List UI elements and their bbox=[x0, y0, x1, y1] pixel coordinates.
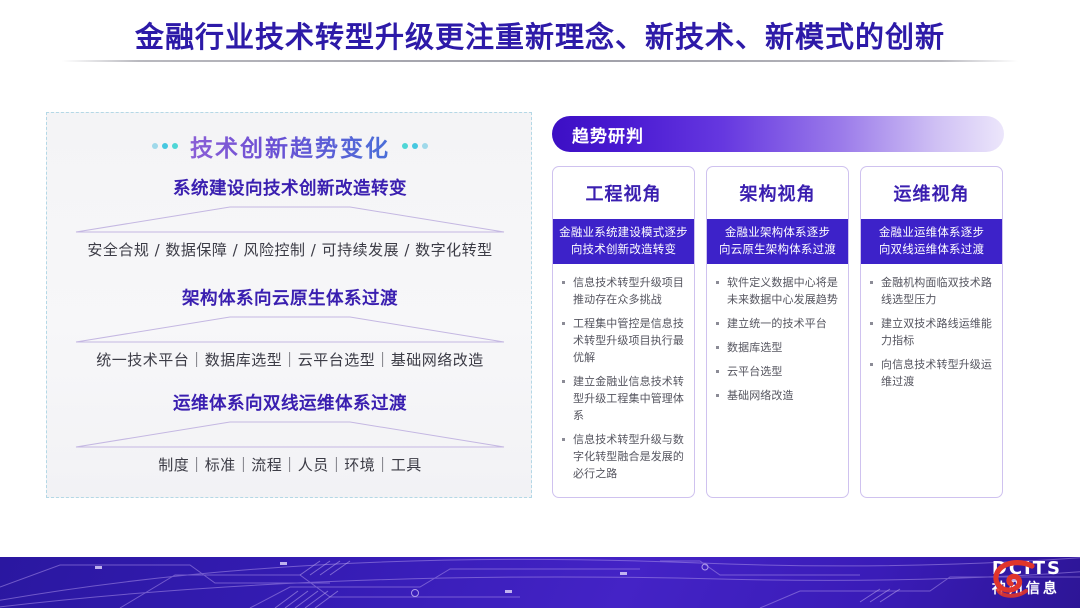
funnel-shape-icon bbox=[75, 206, 505, 234]
footer-banner: DCITS 神州信息 bbox=[0, 557, 1080, 608]
trend-group-heading: 运维体系向双线运维体系过渡 bbox=[47, 390, 533, 415]
card-summary-band: 金融业运维体系逐步 向双线运维体系过渡 bbox=[861, 219, 1002, 264]
list-item: 建立双技术路线运维能力指标 bbox=[867, 315, 994, 349]
perspective-card-engineering[interactable]: 工程视角 金融业系统建设模式逐步 向技术创新改造转变 信息技术转型升级项目推动存… bbox=[552, 166, 695, 498]
list-item: 建立金融业信息技术转型升级工程集中管理体系 bbox=[559, 373, 686, 424]
list-item: 基础网络改造 bbox=[713, 387, 840, 404]
list-item: 金融机构面临双技术路线选型压力 bbox=[867, 274, 994, 308]
card-band-line: 向云原生架构体系过渡 bbox=[711, 241, 844, 258]
card-band-line: 向技术创新改造转变 bbox=[557, 241, 690, 258]
card-summary-band: 金融业系统建设模式逐步 向技术创新改造转变 bbox=[553, 219, 694, 264]
funnel-shape-icon bbox=[75, 316, 505, 344]
card-title: 架构视角 bbox=[707, 167, 848, 219]
perspective-card-architecture[interactable]: 架构视角 金融业架构体系逐步 向云原生架构体系过渡 软件定义数据中心将是未来数据… bbox=[706, 166, 849, 498]
trend-judgement-label: 趋势研判 bbox=[572, 122, 644, 147]
decorative-dots-right bbox=[402, 143, 428, 149]
card-band-line: 金融业运维体系逐步 bbox=[865, 224, 998, 241]
list-item: 数据库选型 bbox=[713, 339, 840, 356]
page-title: 金融行业技术转型升级更注重新理念、新技术、新模式的创新 bbox=[0, 14, 1080, 56]
trend-group-heading: 架构体系向云原生体系过渡 bbox=[47, 285, 533, 310]
trend-change-panel: 技术创新趋势变化 系统建设向技术创新改造转变 安全合规 / 数据保障 / 风险控… bbox=[46, 112, 532, 498]
perspective-card-list: 工程视角 金融业系统建设模式逐步 向技术创新改造转变 信息技术转型升级项目推动存… bbox=[552, 166, 1004, 498]
card-summary-band: 金融业架构体系逐步 向云原生架构体系过渡 bbox=[707, 219, 848, 264]
list-item: 软件定义数据中心将是未来数据中心发展趋势 bbox=[713, 274, 840, 308]
list-item: 信息技术转型升级项目推动存在众多挑战 bbox=[559, 274, 686, 308]
list-item: 信息技术转型升级与数字化转型融合是发展的必行之路 bbox=[559, 431, 686, 482]
left-panel-title: 技术创新趋势变化 bbox=[190, 129, 390, 163]
card-bullet-area: 软件定义数据中心将是未来数据中心发展趋势 建立统一的技术平台 数据库选型 云平台… bbox=[707, 264, 848, 497]
company-logo: DCITS 神州信息 bbox=[992, 560, 1062, 596]
left-panel-header: 技术创新趋势变化 bbox=[47, 129, 533, 163]
dcits-swirl-logo-icon bbox=[992, 560, 1036, 600]
trend-judgement-banner: 趋势研判 bbox=[552, 116, 1004, 152]
card-band-line: 金融业架构体系逐步 bbox=[711, 224, 844, 241]
trend-group: 架构体系向云原生体系过渡 统一技术平台｜数据库选型｜云平台选型｜基础网络改造 bbox=[47, 285, 533, 370]
trend-group-items: 安全合规 / 数据保障 / 风险控制 / 可持续发展 / 数字化转型 bbox=[47, 239, 533, 260]
funnel-shape-icon bbox=[75, 421, 505, 449]
card-band-line: 金融业系统建设模式逐步 bbox=[557, 224, 690, 241]
trend-group: 系统建设向技术创新改造转变 安全合规 / 数据保障 / 风险控制 / 可持续发展… bbox=[47, 175, 533, 260]
circuit-pattern-icon bbox=[0, 557, 1080, 608]
trend-group-heading: 系统建设向技术创新改造转变 bbox=[47, 175, 533, 200]
title-divider bbox=[62, 60, 1018, 62]
list-item: 向信息技术转型升级运维过渡 bbox=[867, 356, 994, 390]
card-bullet-area: 信息技术转型升级项目推动存在众多挑战 工程集中管控是信息技术转型升级项目执行最优… bbox=[553, 264, 694, 497]
trend-group: 运维体系向双线运维体系过渡 制度｜标准｜流程｜人员｜环境｜工具 bbox=[47, 390, 533, 475]
list-item: 建立统一的技术平台 bbox=[713, 315, 840, 332]
perspective-card-operations[interactable]: 运维视角 金融业运维体系逐步 向双线运维体系过渡 金融机构面临双技术路线选型压力… bbox=[860, 166, 1003, 498]
card-band-line: 向双线运维体系过渡 bbox=[865, 241, 998, 258]
list-item: 工程集中管控是信息技术转型升级项目执行最优解 bbox=[559, 315, 686, 366]
list-item: 云平台选型 bbox=[713, 363, 840, 380]
card-title: 运维视角 bbox=[861, 167, 1002, 219]
decorative-dots-left bbox=[152, 143, 178, 149]
trend-group-items: 统一技术平台｜数据库选型｜云平台选型｜基础网络改造 bbox=[47, 349, 533, 370]
card-title: 工程视角 bbox=[553, 167, 694, 219]
card-bullet-area: 金融机构面临双技术路线选型压力 建立双技术路线运维能力指标 向信息技术转型升级运… bbox=[861, 264, 1002, 497]
trend-group-items: 制度｜标准｜流程｜人员｜环境｜工具 bbox=[47, 454, 533, 475]
